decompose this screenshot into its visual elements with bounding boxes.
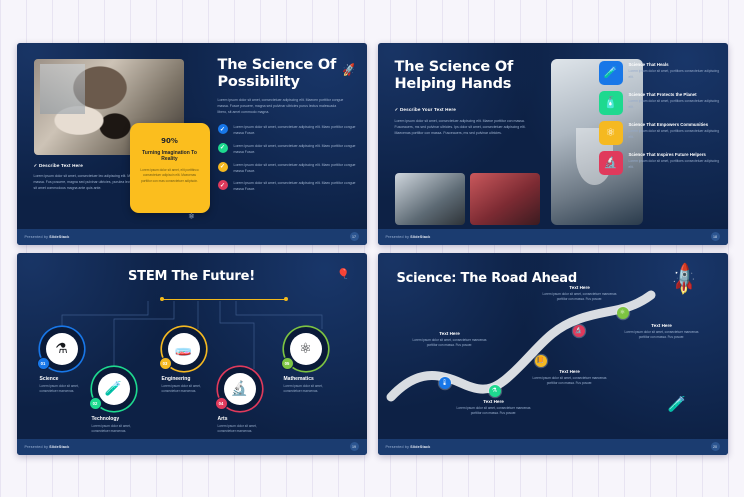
node-label: Arts: [218, 416, 262, 422]
list-item: ✓Lorem ipsum dolor sit amet, consectetue…: [218, 124, 360, 136]
list-item: ✓Lorem ipsum dolor sit amet, consectetue…: [218, 180, 360, 192]
list-item: 🧪 Science That HealsLorem ipsum dolor si…: [599, 61, 721, 85]
node-label: Mathematics: [284, 376, 328, 382]
list-item: ✓Lorem ipsum dolor sit amet, consectetue…: [218, 162, 360, 174]
check-icon: ✓: [34, 163, 38, 168]
slide-1-right-column: The Science Of Possibility Lorem ipsum d…: [218, 57, 360, 193]
describe-text-label: ✓ Describe Your Text Here: [395, 107, 545, 113]
feature-body: Lorem ipsum dolor sit amet, porttitoes c…: [629, 99, 721, 110]
feature-heading: Science That Inspires Future Helpers: [629, 152, 721, 158]
check-icon: ✓: [218, 143, 228, 153]
page-title: The Science Of Possibility: [218, 57, 360, 91]
lab-pouring-thumb: [395, 173, 465, 225]
flask-icon: ⚗: [46, 333, 78, 365]
thermometer-icon[interactable]: 🌡: [439, 377, 451, 389]
node-number: 05: [281, 357, 294, 370]
footer-credit: Presented by SlideStack: [25, 445, 70, 449]
slide-footer: Presented by SlideStack 20: [378, 439, 728, 455]
milestone-4: Text Here Lorem ipsum dolor sit amet, co…: [539, 285, 621, 303]
slide-footer: Presented by SlideStack 18: [378, 229, 728, 245]
test-tubes-icon: 🧪: [98, 373, 130, 405]
feature-heading: Science That Heals: [629, 62, 721, 68]
test-tubes-icon: 🧪: [599, 61, 623, 85]
describe-text-label: ✓ Describe Text Here: [34, 163, 83, 169]
feature-body: Lorem ipsum dolor sit amet, porttitoes c…: [629, 69, 721, 80]
milestone-2: Text Here Lorem ipsum dolor sit amet, co…: [453, 399, 535, 417]
stem-node-technology[interactable]: 🧪 02 Technology Lorem ipsum dolor sit am…: [92, 367, 136, 435]
page-number: 20: [711, 442, 720, 451]
node-ring: 🧫 03: [162, 327, 206, 371]
list-item: ✓Lorem ipsum dolor sit amet, consectetue…: [218, 143, 360, 155]
slide-footer: Presented by SlideStack 17: [17, 229, 367, 245]
slide-stem-the-future[interactable]: STEM The Future! 🎈 ⚗ 01 Science Lore: [17, 253, 367, 455]
list-item: 🧴 Science That Protects the PlanetLorem …: [599, 91, 721, 115]
list-item: ⚛ Science That Empowers CommunitiesLorem…: [599, 121, 721, 145]
microscope-icon: 🔬: [599, 151, 623, 175]
stem-node-mathematics[interactable]: ⚛ 05 Mathematics Lorem ipsum dolor sit a…: [284, 327, 328, 395]
slide-4-content: Science: The Road Ahead 🌡 ⚗ 📙 🔬 ⚛ Text H…: [383, 257, 723, 435]
thumbnail-row: [395, 173, 540, 225]
node-ring: ⚛ 05: [284, 327, 328, 371]
book-icon[interactable]: 📙: [535, 355, 547, 367]
slide-road-ahead[interactable]: Science: The Road Ahead 🌡 ⚗ 📙 🔬 ⚛ Text H…: [378, 253, 728, 455]
node-body: Lorem ipsum dolor sit amet, consectetuer…: [92, 424, 144, 435]
stat-headline: Turning Imagination To Reality: [138, 150, 202, 164]
node-number: 03: [159, 357, 172, 370]
feature-body: Lorem ipsum dolor sit amet, porttitoes c…: [629, 159, 721, 170]
slide-2-left-column: The Science Of Helping Hands ✓ Describe …: [395, 59, 545, 137]
footer-credit: Presented by SlideStack: [386, 445, 431, 449]
stem-node-arts[interactable]: 🔬 04 Arts Lorem ipsum dolor sit amet, co…: [218, 367, 262, 435]
node-ring: 🔬 04: [218, 367, 262, 411]
feature-heading: Science That Empowers Communities: [629, 122, 721, 128]
atom-icon: ⚛: [599, 121, 623, 145]
page-number: 18: [711, 232, 720, 241]
feature-list: 🧪 Science That HealsLorem ipsum dolor si…: [599, 61, 721, 175]
flask-icon[interactable]: ⚗: [489, 385, 501, 397]
atom-icon: ⚛: [188, 212, 195, 221]
beaker-icon: 🧫: [168, 333, 200, 365]
slide-helping-hands[interactable]: The Science Of Helping Hands ✓ Describe …: [378, 43, 728, 245]
footer-credit: Presented by SlideStack: [25, 235, 70, 239]
footer-credit: Presented by SlideStack: [386, 235, 431, 239]
atom-icon: ⚛: [290, 333, 322, 365]
node-body: Lorem ipsum dolor sit amet, consectetuer…: [218, 424, 270, 435]
slide-footer: Presented by SlideStack 19: [17, 439, 367, 455]
page-title: The Science Of Helping Hands: [395, 59, 545, 93]
check-icon: ✓: [218, 162, 228, 172]
page-number: 17: [350, 232, 359, 241]
node-number: 01: [37, 357, 50, 370]
milestone-1: Text Here Lorem ipsum dolor sit amet, co…: [409, 331, 491, 349]
test-tube-rack-icon: 🧪: [668, 395, 687, 413]
slide-2-content: The Science Of Helping Hands ✓ Describe …: [383, 47, 723, 225]
check-icon: ✓: [395, 107, 399, 112]
stat-body: Lorem ipsum dolor sit amet, elit porttit…: [138, 168, 202, 184]
slide-deck: ✓ Describe Text Here Lorem ipsum dolor s…: [0, 0, 744, 497]
lab-spray-thumb: [470, 173, 540, 225]
list-item: 🔬 Science That Inspires Future HelpersLo…: [599, 151, 721, 175]
slide-2-paragraph: Lorem ipsum dolor sit amet, consectetuer…: [395, 118, 541, 136]
node-ring: 🧪 02: [92, 367, 136, 411]
feature-body: Lorem ipsum dolor sit amet, porttitoes c…: [629, 129, 721, 140]
rocket-icon: 🚀: [341, 63, 356, 78]
stat-card: 90% Turning Imagination To Reality Lorem…: [130, 123, 210, 213]
node-body: Lorem ipsum dolor sit amet, consectetuer…: [40, 384, 92, 395]
milestone-5: Text Here Lorem ipsum dolor sit amet, co…: [621, 323, 703, 341]
check-icon: ✓: [218, 124, 228, 134]
stem-node-engineering[interactable]: 🧫 03 Engineering Lorem ipsum dolor sit a…: [162, 327, 206, 395]
atom-icon[interactable]: ⚛: [617, 307, 629, 319]
node-number: 04: [215, 397, 228, 410]
slide-1-intro-paragraph: Lorem ipsum dolor sit amet, consectetuer…: [218, 97, 346, 115]
slide-3-content: STEM The Future! 🎈 ⚗ 01 Science Lore: [22, 257, 362, 435]
bullet-list: ✓Lorem ipsum dolor sit amet, consectetue…: [218, 124, 360, 193]
milestone-3: Text Here Lorem ipsum dolor sit amet, co…: [529, 369, 611, 387]
feature-heading: Science That Protects the Planet: [629, 92, 721, 98]
node-body: Lorem ipsum dolor sit amet, consectetuer…: [162, 384, 214, 395]
node-body: Lorem ipsum dolor sit amet, consectetuer…: [284, 384, 336, 395]
node-number: 02: [89, 397, 102, 410]
slide-possibility[interactable]: ✓ Describe Text Here Lorem ipsum dolor s…: [17, 43, 367, 245]
stem-node-science[interactable]: ⚗ 01 Science Lorem ipsum dolor sit amet,…: [40, 327, 84, 395]
microscope-icon: 🔬: [224, 373, 256, 405]
microscope-icon[interactable]: 🔬: [573, 325, 585, 337]
node-label: Engineering: [162, 376, 206, 382]
node-ring: ⚗ 01: [40, 327, 84, 371]
flask-bottle-icon: 🧴: [599, 91, 623, 115]
node-label: Technology: [92, 416, 136, 422]
slide-1-content: ✓ Describe Text Here Lorem ipsum dolor s…: [22, 47, 362, 225]
check-icon: ✓: [218, 180, 228, 190]
node-label: Science: [40, 376, 84, 382]
page-number: 19: [350, 442, 359, 451]
stat-value: 90%: [138, 132, 202, 147]
